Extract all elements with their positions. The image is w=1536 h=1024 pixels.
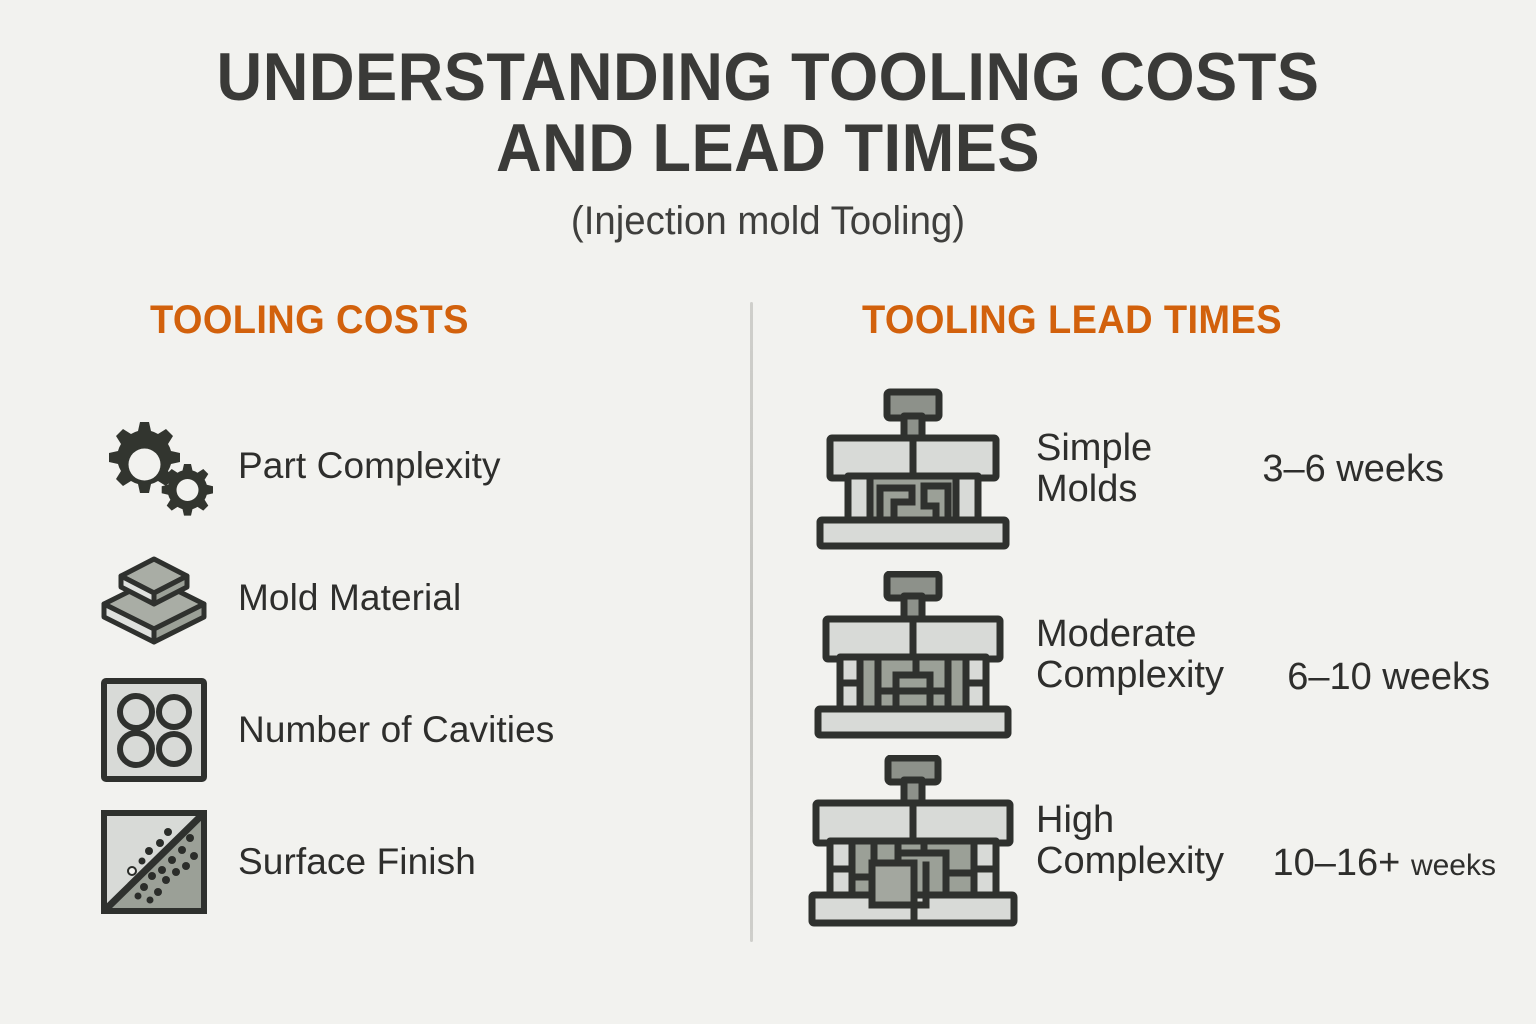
- list-item: Surface Finish: [88, 796, 728, 928]
- cost-item-label: Mold Material: [238, 577, 461, 619]
- lead-time-weeks-value: 10–16+: [1273, 842, 1401, 884]
- column-divider: [750, 302, 753, 942]
- list-item: Number of Cavities: [88, 664, 728, 796]
- tooling-lead-times-list: Simple Molds 3–6 weeks: [800, 376, 1500, 934]
- tooling-costs-list: Part Complexity: [88, 400, 728, 928]
- gears-icon: [88, 407, 220, 525]
- lead-time-weeks: 3–6 weeks: [1262, 448, 1448, 491]
- mold-press-moderate-icon: [800, 567, 1026, 743]
- cost-item-label: Number of Cavities: [238, 709, 554, 751]
- lead-time-weeks: 10–16+ weeks: [1273, 842, 1500, 885]
- infographic-canvas: UNDERSTANDING TOOLING COSTS AND LEAD TIM…: [0, 0, 1536, 1024]
- cost-item-label: Surface Finish: [238, 841, 476, 883]
- four-cavities-icon: [88, 671, 220, 789]
- tooling-lead-times-heading: TOOLING LEAD TIMES: [862, 298, 1468, 343]
- header: UNDERSTANDING TOOLING COSTS AND LEAD TIM…: [0, 42, 1536, 244]
- lead-time-name: Moderate Complexity: [1036, 614, 1224, 696]
- list-item: Part Complexity: [88, 400, 728, 532]
- page-title: UNDERSTANDING TOOLING COSTS AND LEAD TIM…: [54, 42, 1482, 183]
- tooling-costs-heading: TOOLING COSTS: [150, 298, 699, 343]
- tooling-costs-column: TOOLING COSTS Part Complexity: [88, 298, 728, 343]
- mold-press-high-icon: [800, 753, 1026, 929]
- cost-item-label: Part Complexity: [238, 445, 501, 487]
- mold-press-simple-icon: [800, 381, 1026, 557]
- list-item: Simple Molds 3–6 weeks: [800, 376, 1500, 562]
- tooling-lead-times-column: TOOLING LEAD TIMES: [800, 298, 1500, 343]
- list-item: High Complexity 10–16+ weeks: [800, 748, 1500, 934]
- lead-time-name: High Complexity: [1036, 800, 1224, 882]
- lead-time-name: Simple Molds: [1036, 428, 1152, 510]
- stacked-blocks-icon: [88, 539, 220, 657]
- lead-time-weeks-unit: weeks: [1411, 849, 1496, 882]
- surface-finish-icon: [88, 803, 220, 921]
- page-subtitle: (Injection mold Tooling): [31, 199, 1506, 244]
- list-item: Moderate Complexity 6–10 weeks: [800, 562, 1500, 748]
- lead-time-weeks: 6–10 weeks: [1287, 656, 1494, 699]
- list-item: Mold Material: [88, 532, 728, 664]
